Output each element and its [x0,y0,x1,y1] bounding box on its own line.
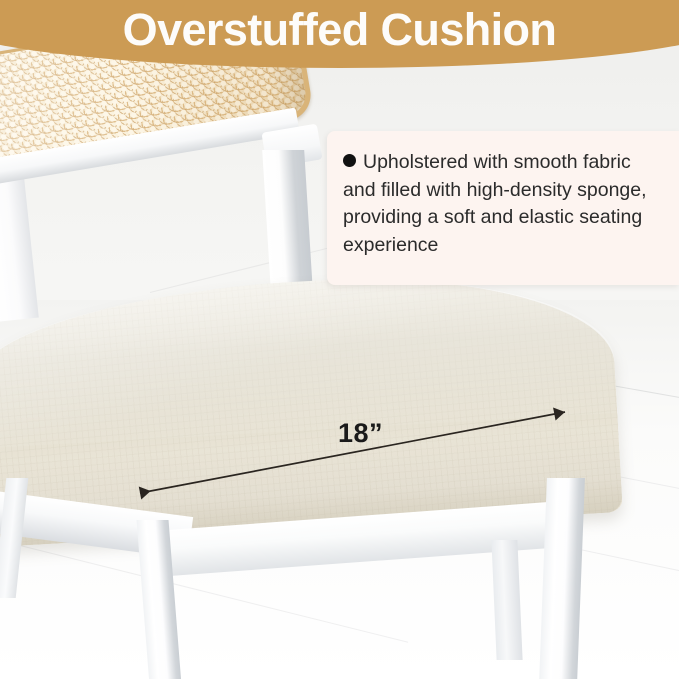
feature-callout-box: Upholstered with smooth fabric and fille… [327,131,679,285]
chair-leg-rear-right [491,540,522,660]
chair-product [0,0,679,679]
page-title: Overstuffed Cushion [0,4,679,56]
chair-leg-front-right [539,478,585,679]
feature-description: Upholstered with smooth fabric and fille… [343,151,647,256]
bullet-dot-icon [343,154,356,167]
product-feature-image: 18” Overstuffed Cushion Upholstered with… [0,0,679,679]
dimension-label: 18” [338,418,383,449]
feature-callout-text: Upholstered with smooth fabric and fille… [343,149,663,259]
